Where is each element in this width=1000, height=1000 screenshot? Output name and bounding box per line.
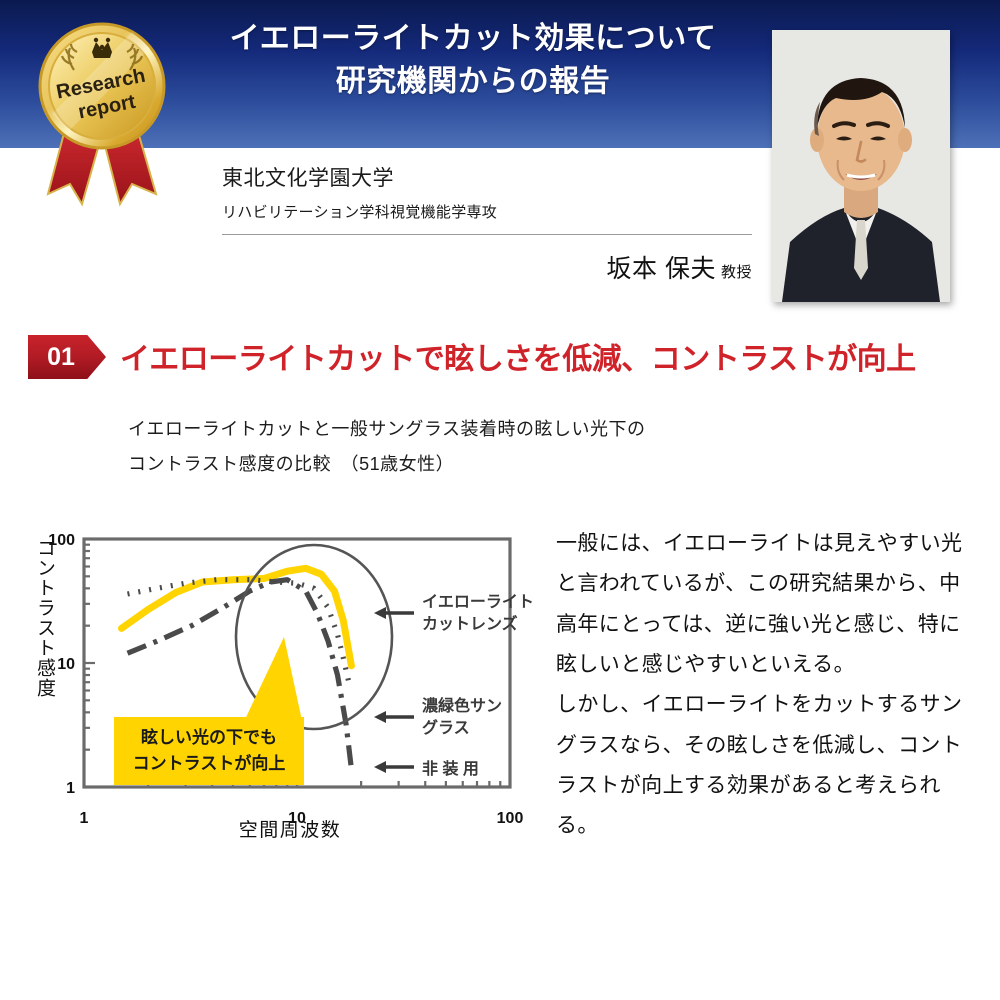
section-heading: イエローライトカットで眩しさを低減、コントラストが向上 [120,334,990,378]
person-name: 坂本 保夫 [607,255,716,283]
section-subtext-line2: コントラスト感度の比較 （51歳女性） [128,447,848,482]
chart-y-tick-label: 1 [66,780,75,797]
annotation-label: 非 装 用 [422,759,479,778]
department-name: リハビリテーション学科視覚機能学専攻 [222,201,752,222]
body-paragraph-1: 一般には、イエローライトは見えやすい光と言われているが、この研究結果から、中高年… [556,524,976,685]
research-report-medal: Research report [22,14,182,214]
chart-x-axis-label: 空間周波数 [150,815,430,842]
person-name-row: 坂本 保夫教授 [222,249,752,285]
infographic-page: イエローライトカット効果について 研究機関からの報告 [0,0,1000,1000]
annotation-label: 濃緑色サン [422,696,502,715]
contrast-sensitivity-chart: 110100110100眩しい光の下でもコントラストが向上イエローライトカットレ… [22,515,542,855]
body-text-column: 一般には、イエローライトは見えやすい光と言われているが、この研究結果から、中高年… [556,524,976,847]
annotation-arrowhead [374,607,386,619]
page-title: イエローライトカット効果について 研究機関からの報告 [178,18,768,103]
annotation-label: グラス [422,718,470,737]
callout-arrow [240,637,304,730]
section-subtext-line1: イエローライトカットと一般サングラス装着時の眩しい光下の [128,412,848,447]
section-number-badge: 01 [28,335,106,379]
section-number: 01 [47,343,75,372]
chart-y-tick-label: 100 [48,532,75,549]
professor-photo [772,30,950,302]
chart-x-tick-label: 1 [80,810,89,827]
university-name: 東北文化学園大学 [222,162,752,192]
page-title-line2: 研究機関からの報告 [178,61,768,104]
chart-y-tick-label: 10 [57,656,75,673]
annotation-arrowhead [374,761,386,773]
section-subtext: イエローライトカットと一般サングラス装着時の眩しい光下の コントラスト感度の比較… [128,412,848,482]
page-title-line1: イエローライトカット効果について [178,18,768,61]
annotation-label: カットレンズ [422,614,518,633]
affiliation-divider [222,234,752,235]
chart-x-tick-label: 100 [497,810,524,827]
callout-text: コントラストが向上 [133,753,286,773]
callout-text: 眩しい光の下でも [141,727,277,747]
chart-series-dotted [128,580,349,683]
affiliation-block: 東北文化学園大学 リハビリテーション学科視覚機能学専攻 坂本 保夫教授 [222,162,752,285]
annotation-arrowhead [374,711,386,723]
annotation-label: イエローライト [422,594,534,611]
person-rank: 教授 [721,264,752,281]
body-paragraph-2: しかし、イエローライトをカットするサングラスなら、その眩しさを低減し、コントラス… [556,685,976,846]
